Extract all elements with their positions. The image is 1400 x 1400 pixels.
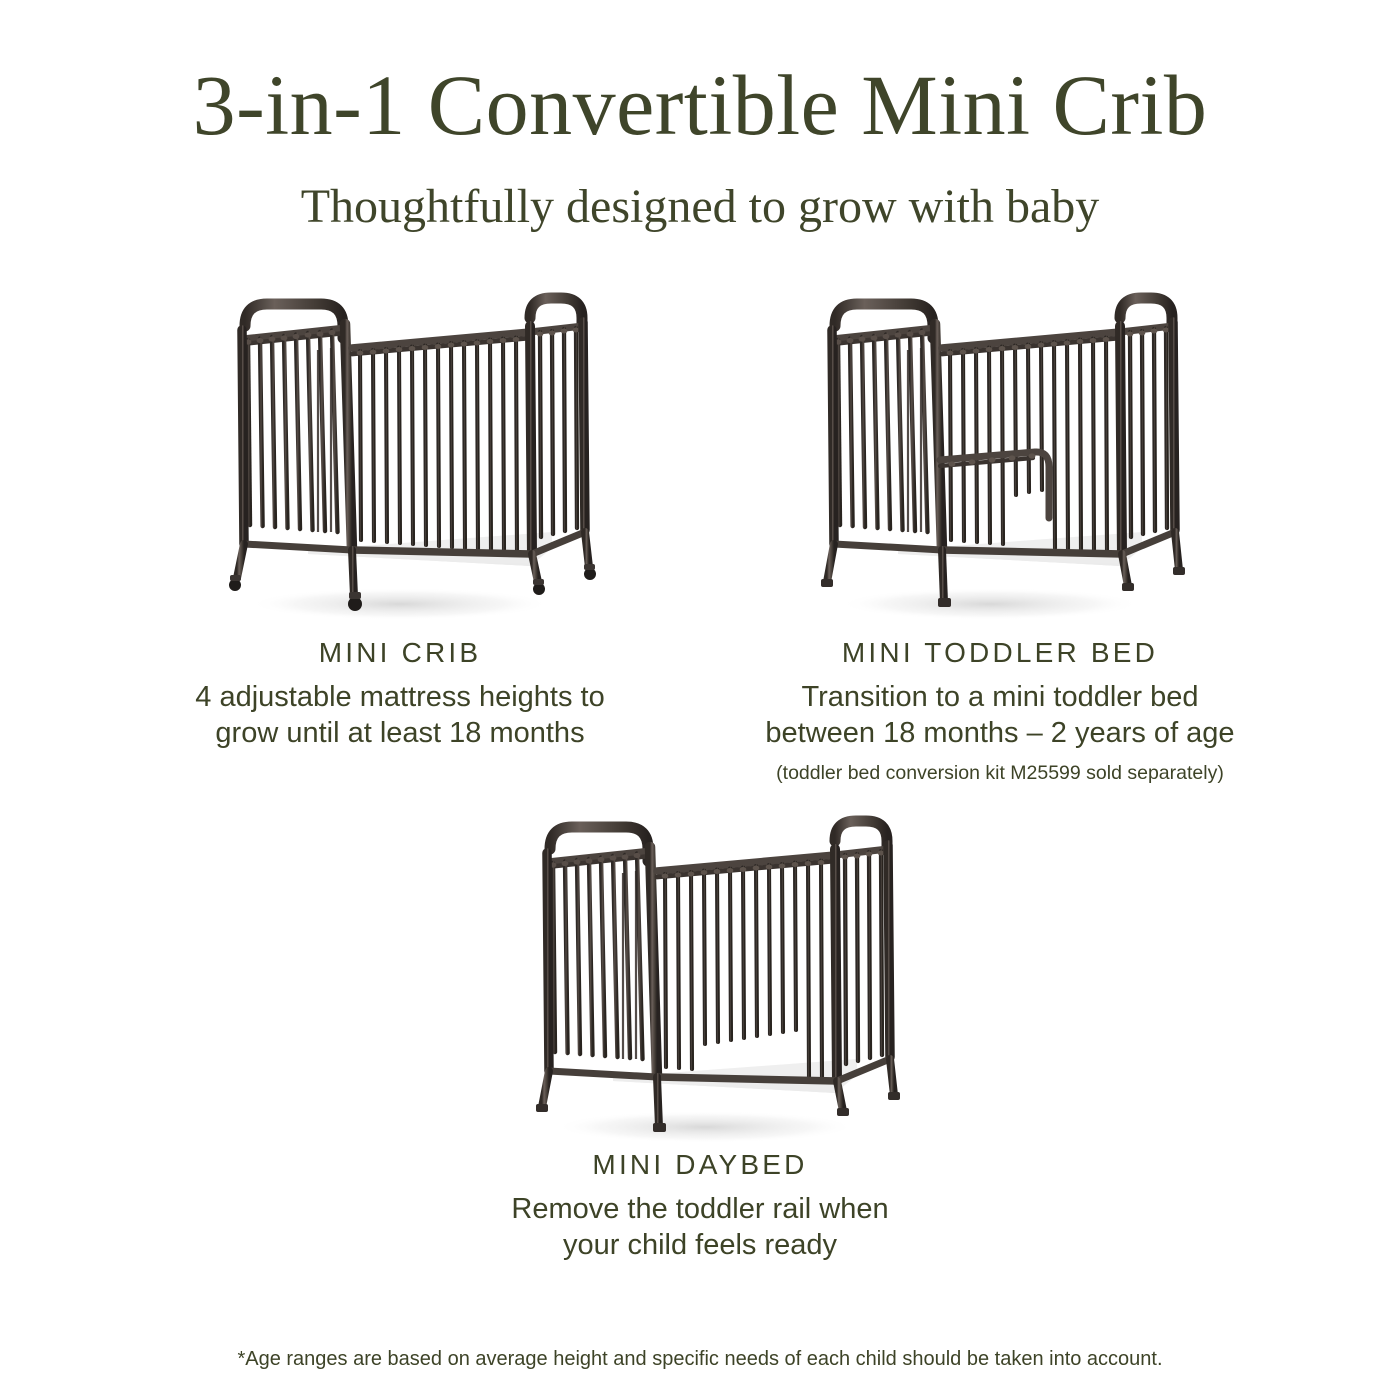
mini-crib-illustration bbox=[200, 282, 600, 627]
page-subtitle: Thoughtfully designed to grow with baby bbox=[0, 183, 1400, 231]
caption-mini-toddler-bed: MINI TODDLER BED Transition to a mini to… bbox=[660, 636, 1340, 787]
stage-body-line: Remove the toddler rail when bbox=[360, 1191, 1040, 1228]
toddler-rail bbox=[940, 452, 1049, 518]
infographic-page: 3-in-1 Convertible Mini Crib Thoughtfull… bbox=[0, 0, 1400, 1400]
stage-body-line: between 18 months – 2 years of age bbox=[660, 715, 1340, 752]
stage-body-line: 4 adjustable mattress heights to bbox=[60, 679, 740, 716]
stage-body-line: your child feels ready bbox=[360, 1227, 1040, 1264]
stage-body-mini-daybed: Remove the toddler rail when your child … bbox=[360, 1191, 1040, 1265]
stage-title-mini-crib: MINI CRIB bbox=[60, 636, 740, 670]
page-title: 3-in-1 Convertible Mini Crib bbox=[0, 62, 1400, 148]
stage-title-mini-toddler-bed: MINI TODDLER BED bbox=[660, 636, 1340, 670]
footnote: *Age ranges are based on average height … bbox=[0, 1348, 1400, 1371]
stage-body-mini-toddler-bed: Transition to a mini toddler bed between… bbox=[660, 679, 1340, 753]
stage-title-mini-daybed: MINI DAYBED bbox=[360, 1148, 1040, 1182]
caption-mini-daybed: MINI DAYBED Remove the toddler rail when… bbox=[360, 1148, 1040, 1264]
stage-body-mini-crib: 4 adjustable mattress heights to grow un… bbox=[60, 679, 740, 753]
stage-note-mini-toddler-bed: (toddler bed conversion kit M25599 sold … bbox=[660, 761, 1340, 786]
mini-daybed-illustration bbox=[505, 805, 905, 1150]
stage-body-line: Transition to a mini toddler bed bbox=[660, 679, 1340, 716]
stage-body-line: grow until at least 18 months bbox=[60, 715, 740, 752]
caption-mini-crib: MINI CRIB 4 adjustable mattress heights … bbox=[60, 636, 740, 752]
mini-toddler-bed-illustration bbox=[790, 282, 1190, 627]
